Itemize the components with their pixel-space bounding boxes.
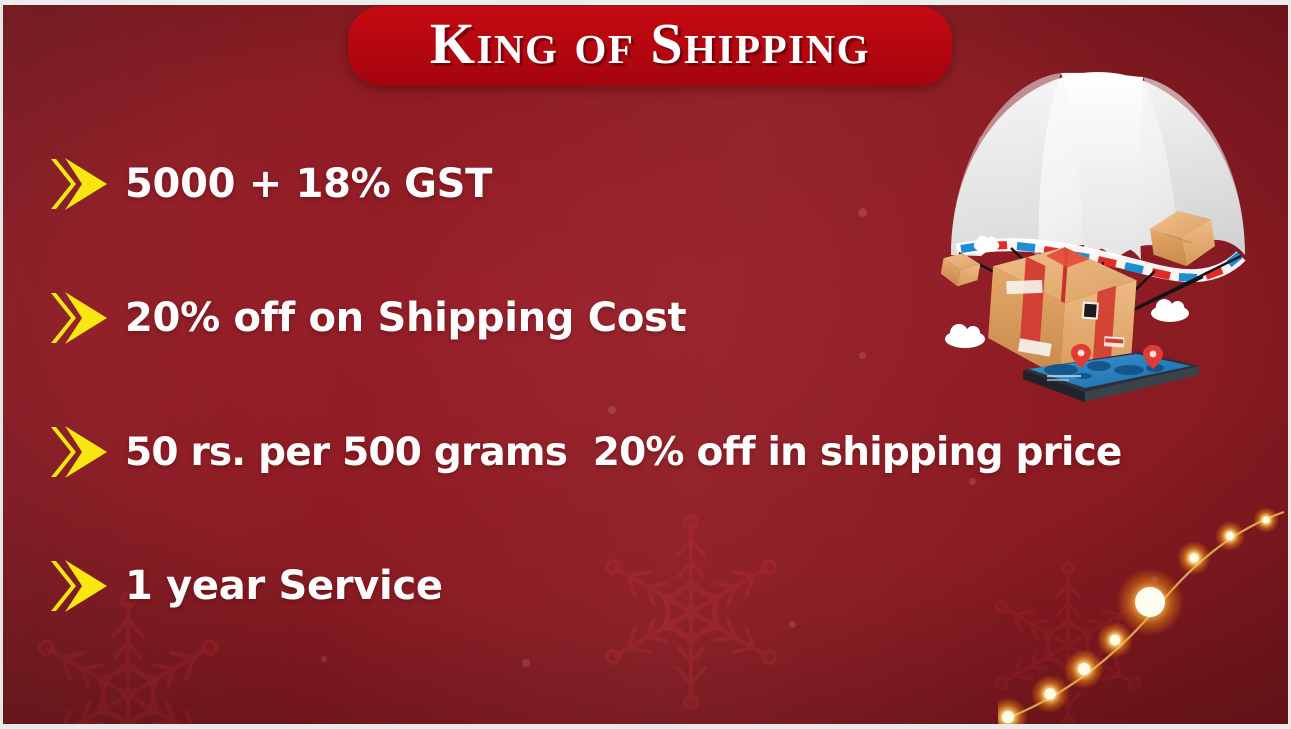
double-chevron-right-icon	[49, 289, 111, 347]
list-item: 50 rs. per 500 grams 20% off in shipping…	[3, 418, 1243, 486]
list-item-label: 50 rs. per 500 grams 20% off in shipping…	[125, 433, 1122, 472]
list-item-label: 5000 + 18% GST	[125, 164, 492, 204]
double-chevron-right-icon	[49, 423, 111, 481]
double-chevron-right-icon	[49, 557, 111, 615]
double-chevron-right-icon	[49, 155, 111, 213]
list-item-label: 1 year Service	[125, 566, 443, 606]
cardboard-box-icon	[939, 250, 981, 290]
list-item: 1 year Service	[3, 552, 1243, 620]
promo-poster: King of Shipping	[0, 0, 1291, 729]
list-item-label: 20% off on Shipping Cost	[125, 298, 686, 338]
shipping-illustration	[933, 50, 1263, 425]
title-banner: King of Shipping	[348, 6, 952, 86]
page-title: King of Shipping	[430, 15, 870, 77]
